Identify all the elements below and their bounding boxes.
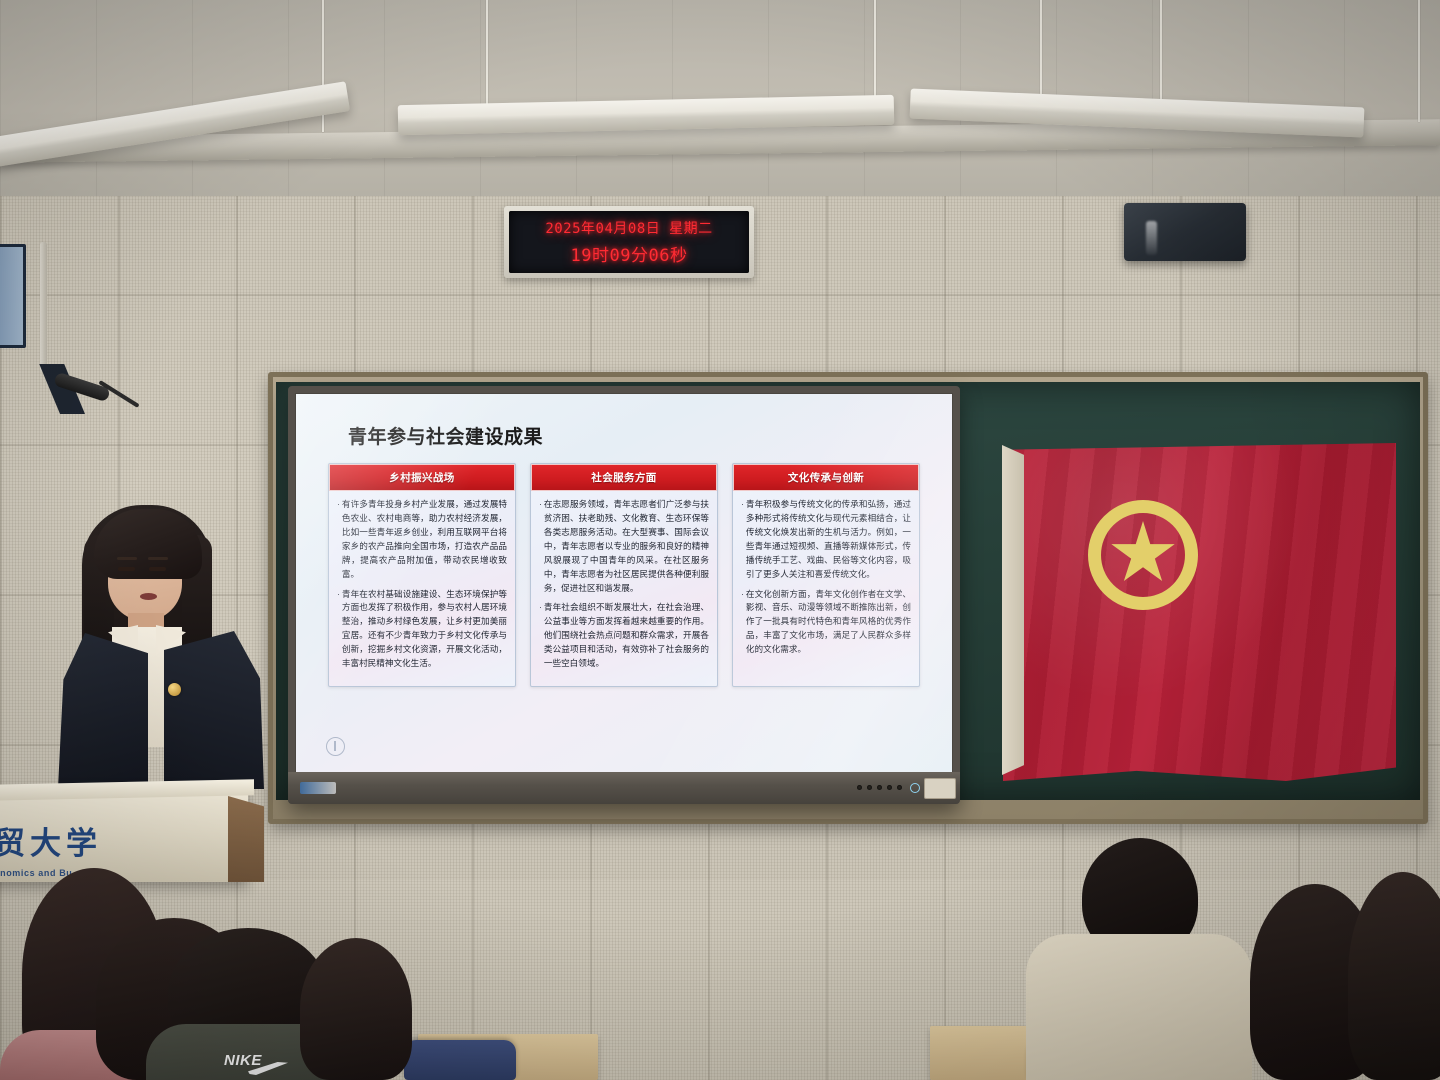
audience-torso	[1026, 934, 1252, 1080]
light-wire	[486, 0, 488, 118]
usb-port-icon[interactable]	[877, 785, 882, 790]
port-row[interactable]	[857, 785, 902, 790]
bullet-text: 青年积极参与传统文化的传承和弘扬，通过多种形式将传统文化与现代元素相结合，让传统…	[746, 498, 911, 582]
nike-wordmark: NIKE	[224, 1052, 262, 1069]
power-button-icon[interactable]	[910, 783, 920, 793]
mount-pole	[40, 242, 47, 372]
presenter-jacket	[58, 633, 148, 788]
bullet-glyph: ·	[337, 498, 340, 582]
smart-board-screen[interactable]: 青年参与社会建设成果 乡村振兴战场 · 有许多青年投身乡村产业发展，通过发展特色…	[296, 394, 952, 772]
flag-hoist-strip	[1002, 445, 1024, 775]
column-header: 文化传承与创新	[733, 464, 919, 491]
light-wire	[1418, 0, 1420, 122]
column-header: 乡村振兴战场	[329, 464, 515, 491]
podium-side-panel	[228, 796, 264, 882]
bullet-text: 在志愿服务领域，青年志愿者们广泛参与扶贫济困、扶老助残、文化教育、生态环保等各类…	[544, 498, 709, 595]
led-clock-time: 19时09分06秒	[571, 241, 688, 266]
slide-columns: 乡村振兴战场 · 有许多青年投身乡村产业发展，通过发展特色农业、农村电商等，助力…	[314, 463, 934, 687]
column-body: · 有许多青年投身乡村产业发展，通过发展特色农业、农村电商等，助力农村经济发展，…	[329, 491, 515, 686]
bullet-text: 在文化创新方面，青年文化创作者在文学、影视、音乐、动漫等领域不断推陈出新，创作了…	[746, 588, 911, 658]
presenter-mouth	[140, 593, 157, 600]
youth-league-emblem-icon	[1088, 500, 1198, 610]
bullet-glyph: ·	[741, 498, 744, 582]
led-clock-screen: 2025年04月08日 星期二 19时09分06秒	[509, 211, 749, 273]
presenter-bangs	[94, 509, 202, 579]
usb-port-icon[interactable]	[887, 785, 892, 790]
usb-port-icon[interactable]	[857, 785, 862, 790]
slide-column: 文化传承与创新 · 青年积极参与传统文化的传承和弘扬，通过多种形式将传统文化与现…	[732, 463, 920, 687]
classroom-scene: 2025年04月08日 星期二 19时09分06秒 青年参与社会建设成果 乡村振…	[0, 0, 1440, 1080]
bullet-item: · 青年在农村基础设施建设、生态环境保护等方面也发挥了积极作用，参与农村人居环境…	[337, 588, 507, 672]
bullet-text: 有许多青年投身乡村产业发展，通过发展特色农业、农村电商等，助力农村经济发展，比如…	[342, 498, 507, 582]
bullet-text: 青年在农村基础设施建设、生态环境保护等方面也发挥了积极作用，参与农村人居环境整治…	[342, 588, 507, 672]
university-name-cn: 贸大学	[0, 818, 184, 863]
smart-board-bezel	[288, 772, 960, 804]
presenter	[60, 495, 275, 805]
presentation-slide: 青年参与社会建设成果 乡村振兴战场 · 有许多青年投身乡村产业发展，通过发展特色…	[296, 394, 952, 772]
bullet-glyph: ·	[539, 498, 542, 595]
presenter-eye	[149, 567, 166, 571]
wall-speaker	[1124, 203, 1246, 261]
bullet-glyph: ·	[741, 588, 744, 658]
bullet-text: 青年社会组织不断发展壮大，在社会治理、公益事业等方面发挥着越来越重要的作用。他们…	[544, 601, 709, 671]
audience-hair	[300, 938, 412, 1080]
slide-column: 社会服务方面 · 在志愿服务领域，青年志愿者们广泛参与扶贫济困、扶老助残、文化教…	[530, 463, 718, 687]
led-clock: 2025年04月08日 星期二 19时09分06秒	[504, 206, 754, 278]
presenter-eyebrow	[117, 557, 137, 560]
presenter-jacket	[164, 631, 264, 789]
brand-logo	[300, 782, 336, 794]
bullet-item: · 在文化创新方面，青年文化创作者在文学、影视、音乐、动漫等领域不断推陈出新，创…	[741, 588, 911, 658]
usb-port-icon[interactable]	[897, 785, 902, 790]
wall-monitor	[0, 244, 26, 348]
bullet-item: · 有许多青年投身乡村产业发展，通过发展特色农业、农村电商等，助力农村经济发展，…	[337, 498, 507, 582]
flag-folds	[1003, 443, 1396, 781]
warning-label	[924, 778, 956, 799]
led-clock-date: 2025年04月08日 星期二	[545, 218, 712, 238]
bullet-glyph: ·	[539, 601, 542, 671]
column-body: · 青年积极参与传统文化的传承和弘扬，通过多种形式将传统文化与现代元素相结合，让…	[733, 491, 919, 672]
presenter-badge-icon	[168, 683, 181, 696]
bullet-glyph: ·	[337, 588, 340, 672]
slide-title: 青年参与社会建设成果	[348, 422, 934, 449]
column-body: · 在志愿服务领域，青年志愿者们广泛参与扶贫济困、扶老助残、文化教育、生态环保等…	[531, 491, 717, 686]
presenter-eyebrow	[148, 557, 168, 560]
youth-league-flag	[1003, 443, 1396, 781]
slide-column: 乡村振兴战场 · 有许多青年投身乡村产业发展，通过发展特色农业、农村电商等，助力…	[328, 463, 516, 687]
light-wire	[874, 0, 876, 108]
chair	[404, 1040, 516, 1080]
column-header: 社会服务方面	[531, 464, 717, 491]
bullet-item: · 在志愿服务领域，青年志愿者们广泛参与扶贫济困、扶老助残、文化教育、生态环保等…	[539, 498, 709, 595]
bullet-item: · 青年社会组织不断发展壮大，在社会治理、公益事业等方面发挥着越来越重要的作用。…	[539, 601, 709, 671]
slide-watermark-icon	[326, 737, 345, 756]
bullet-item: · 青年积极参与传统文化的传承和弘扬，通过多种形式将传统文化与现代元素相结合，让…	[741, 498, 911, 582]
usb-port-icon[interactable]	[867, 785, 872, 790]
presenter-eye	[118, 567, 135, 571]
